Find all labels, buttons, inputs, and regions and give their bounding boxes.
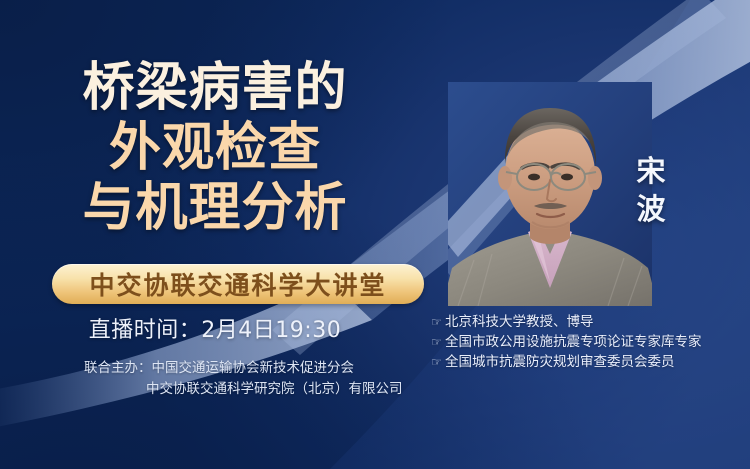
pointing-hand-icon: ☞: [430, 316, 443, 329]
speaker-photo: [448, 82, 652, 306]
live-time: 直播时间：2月4日19:30: [0, 312, 430, 344]
series-badge: 中交协联交通科学大讲堂: [52, 264, 424, 304]
speaker-credentials: ☞ 北京科技大学教授、博导 ☞ 全国市政公用设施抗震专项论证专家库专家 ☞ 全国…: [430, 312, 702, 372]
credential-item: ☞ 全国市政公用设施抗震专项论证专家库专家: [430, 332, 702, 352]
title-line-2: 外观检查: [0, 118, 430, 178]
credential-text: 全国城市抗震防灾规划审查委员会委员: [445, 352, 675, 372]
title-line-3: 与机理分析: [0, 178, 430, 238]
series-badge-label: 中交协联交通科学大讲堂: [89, 266, 386, 302]
speaker-name-char-2: 波: [628, 190, 674, 228]
webinar-poster: 桥梁病害的 外观检查 与机理分析 中交协联交通科学大讲堂 直播时间：2月4日19…: [0, 0, 750, 469]
credential-text: 北京科技大学教授、博导: [445, 312, 594, 332]
credential-item: ☞ 北京科技大学教授、博导: [430, 312, 702, 332]
title-line-1: 桥梁病害的: [0, 58, 430, 118]
credential-text: 全国市政公用设施抗震专项论证专家库专家: [445, 332, 702, 352]
poster-title: 桥梁病害的 外观检查 与机理分析: [0, 58, 430, 238]
speaker-name-char-1: 宋: [628, 152, 674, 190]
organizer-line-2: 中交协联交通科学研究院（北京）有限公司: [46, 379, 446, 400]
pointing-hand-icon: ☞: [430, 356, 443, 369]
pointing-hand-icon: ☞: [430, 336, 443, 349]
credential-item: ☞ 全国城市抗震防灾规划审查委员会委员: [430, 352, 702, 372]
organizers: 联合主办：中国交通运输协会新技术促进分会 中交协联交通科学研究院（北京）有限公司: [46, 358, 446, 400]
speaker-name: 宋 波: [628, 152, 674, 228]
organizer-line-1: 联合主办：中国交通运输协会新技术促进分会: [46, 358, 446, 379]
